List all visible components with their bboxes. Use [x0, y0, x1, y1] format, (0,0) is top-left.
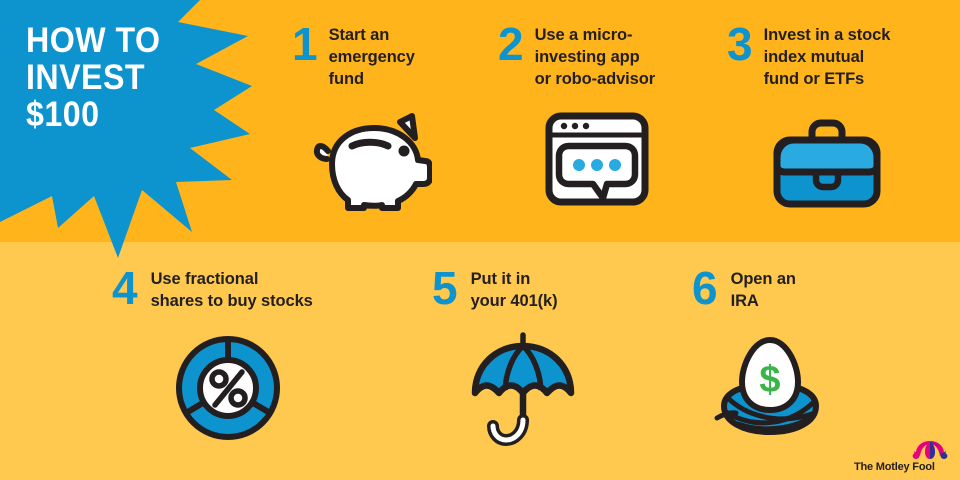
step-1-label-line-2: emergency	[329, 46, 415, 68]
infographic-canvas: How to Invest $100 1 Start an emergency …	[0, 0, 960, 480]
umbrella-icon	[468, 330, 578, 448]
step-1-number: 1	[292, 24, 317, 64]
step-item-1: 1 Start an emergency fund	[292, 24, 482, 90]
step-6-icon-container: $	[714, 330, 826, 449]
step-3-label-line-3: fund or ETFs	[764, 68, 891, 90]
step-4-number: 4	[112, 268, 137, 308]
step-5-icon-container	[468, 330, 578, 453]
step-3-number: 3	[727, 24, 752, 64]
title-line-1: How to	[26, 22, 210, 59]
step-4-label: Use fractional shares to buy stocks	[151, 268, 313, 312]
step-item-3: 3 Invest in a stock index mutual fund or…	[727, 24, 942, 90]
step-item-4: 4 Use fractional shares to buy stocks	[112, 268, 372, 312]
step-5-number: 5	[432, 268, 457, 308]
step-3-label: Invest in a stock index mutual fund or E…	[764, 24, 891, 90]
jester-hat-icon	[912, 440, 948, 460]
step-1-icon-container	[312, 104, 432, 219]
step-6-label-line-1: Open an	[731, 268, 796, 290]
step-item-5: 5 Put it in your 401(k)	[432, 268, 632, 312]
step-2-label-line-1: Use a micro-	[535, 24, 655, 46]
step-5-label-line-2: your 401(k)	[471, 290, 558, 312]
step-1-label: Start an emergency fund	[329, 24, 415, 90]
percent-donut-chart-icon	[174, 334, 282, 442]
title-line-2: Invest	[26, 59, 210, 96]
step-item-6: 6 Open an IRA	[692, 268, 872, 312]
step-6-heading: 6 Open an IRA	[692, 268, 872, 312]
step-4-icon-container	[174, 334, 282, 447]
step-6-label-line-2: IRA	[731, 290, 796, 312]
step-4-heading: 4 Use fractional shares to buy stocks	[112, 268, 372, 312]
step-1-label-line-1: Start an	[329, 24, 415, 46]
step-5-label: Put it in your 401(k)	[471, 268, 558, 312]
title-line-3: $100	[26, 96, 210, 133]
step-4-label-line-2: shares to buy stocks	[151, 290, 313, 312]
step-2-number: 2	[498, 24, 523, 64]
step-1-heading: 1 Start an emergency fund	[292, 24, 482, 90]
step-2-heading: 2 Use a micro- investing app or robo-adv…	[498, 24, 708, 90]
step-3-heading: 3 Invest in a stock index mutual fund or…	[727, 24, 942, 90]
step-2-icon-container	[545, 112, 649, 211]
brand-name: The Motley Fool	[854, 461, 935, 473]
step-5-heading: 5 Put it in your 401(k)	[432, 268, 632, 312]
step-item-2: 2 Use a micro- investing app or robo-adv…	[498, 24, 708, 90]
chat-browser-window-icon	[545, 112, 649, 206]
briefcase-icon	[772, 114, 882, 210]
step-3-label-line-1: Invest in a stock	[764, 24, 891, 46]
step-3-label-line-2: index mutual	[764, 46, 891, 68]
step-5-label-line-1: Put it in	[471, 268, 558, 290]
piggy-bank-icon	[312, 104, 432, 214]
step-4-label-line-1: Use fractional	[151, 268, 313, 290]
nest-egg-icon: $	[714, 330, 826, 444]
step-6-label: Open an IRA	[731, 268, 796, 312]
step-2-label-line-3: or robo-advisor	[535, 68, 655, 90]
page-title: How to Invest $100	[26, 22, 210, 133]
step-6-number: 6	[692, 268, 717, 308]
step-3-icon-container	[772, 114, 882, 215]
svg-text:$: $	[759, 359, 780, 401]
step-1-label-line-3: fund	[329, 68, 415, 90]
step-2-label: Use a micro- investing app or robo-advis…	[535, 24, 655, 90]
step-2-label-line-2: investing app	[535, 46, 655, 68]
motley-fool-logo[interactable]: The Motley Fool	[854, 440, 950, 474]
